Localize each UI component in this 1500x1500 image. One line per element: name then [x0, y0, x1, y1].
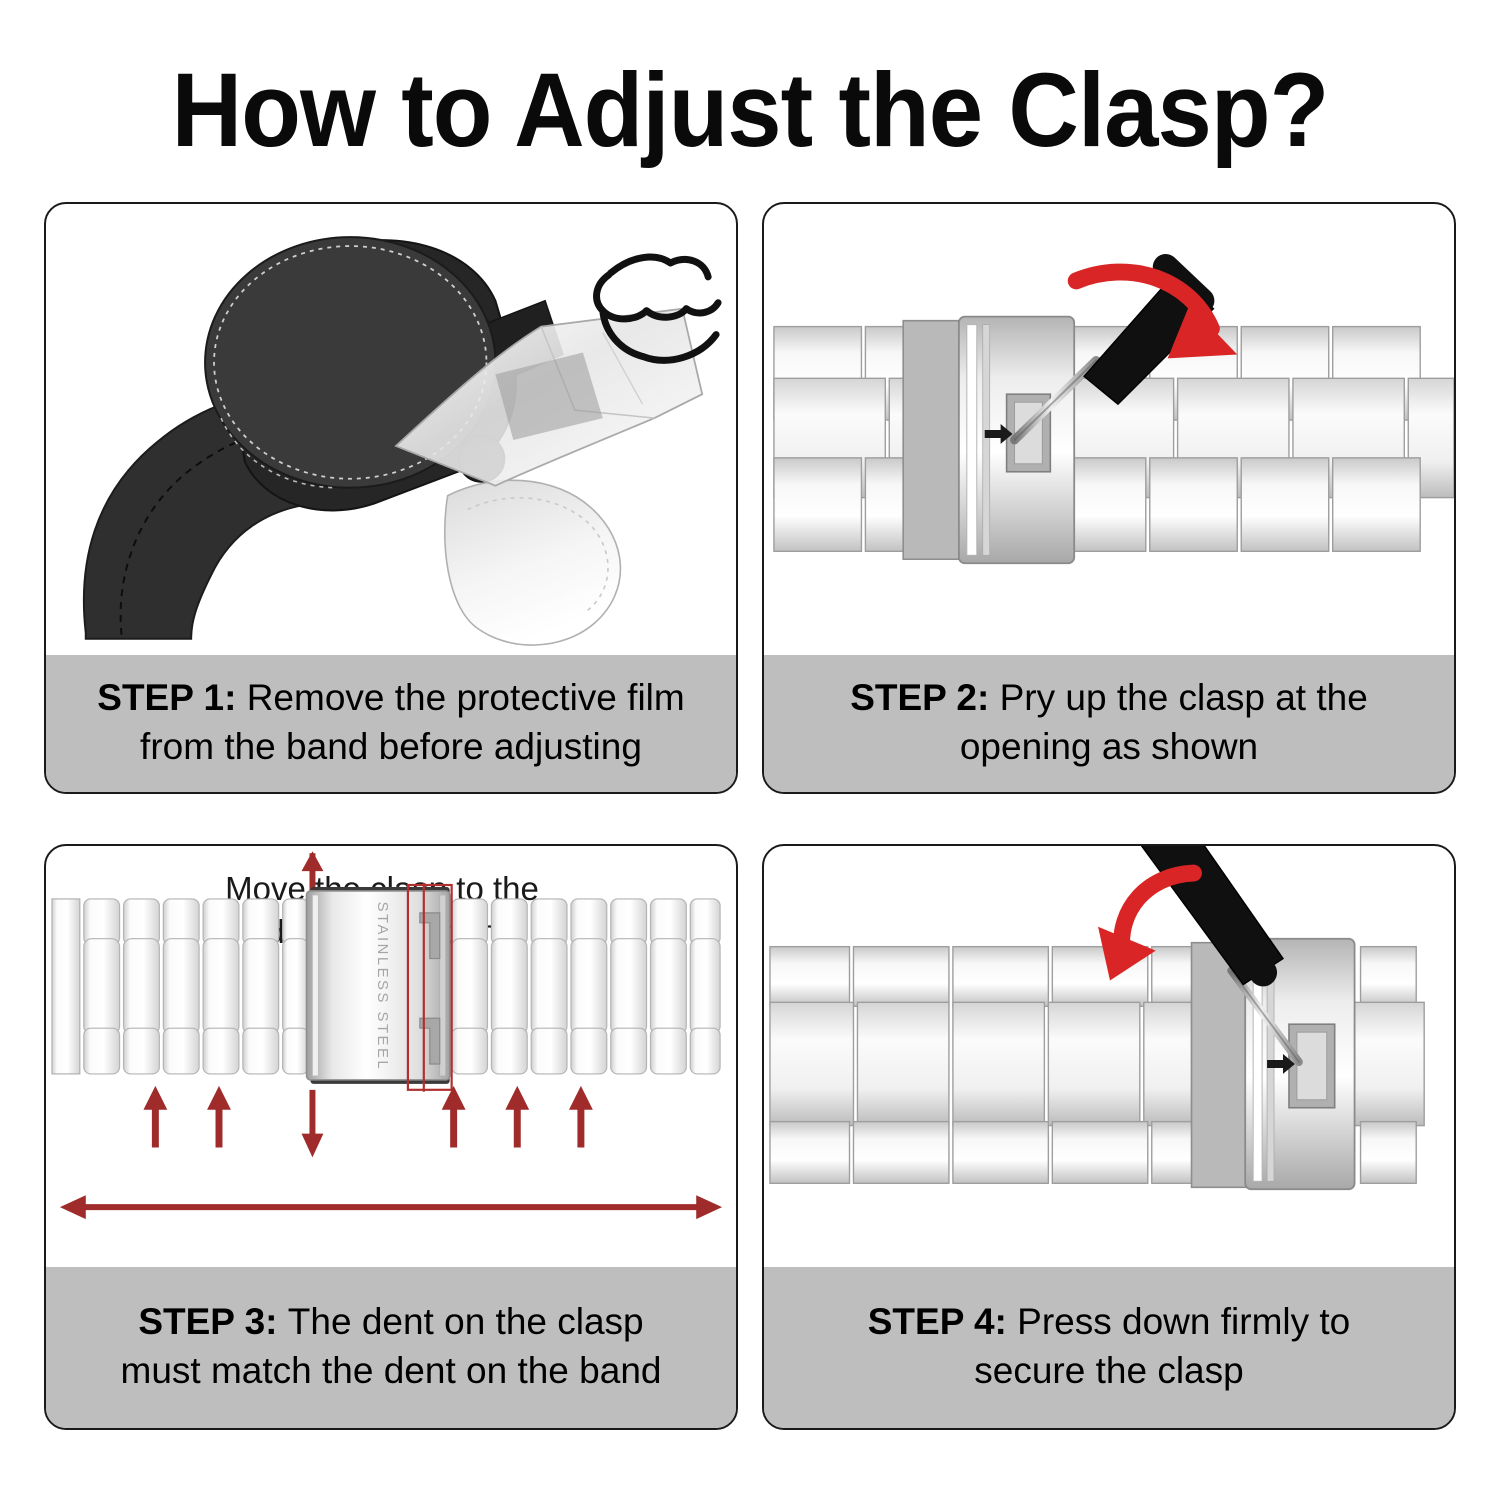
step-1-panel: STEP 1: Remove the protective film from …: [44, 202, 738, 794]
step-4-caption: STEP 4: Press down firmly to secure the …: [764, 1267, 1454, 1428]
step-2-caption-line-2: opening as shown: [960, 723, 1258, 772]
page-title: How to Adjust the Clasp?: [53, 56, 1448, 166]
step-4-caption-line-2: secure the clasp: [974, 1347, 1243, 1396]
infographic-page: How to Adjust the Clasp?: [0, 0, 1500, 1500]
step-2-caption: STEP 2: Pry up the clasp at the opening …: [764, 655, 1454, 792]
step-1-caption-line-1: Remove the protective film: [247, 677, 685, 718]
step-3-panel: Move the clasp to the desired position: [44, 844, 738, 1430]
step-4-illustration: [764, 846, 1454, 1276]
step-3-caption: STEP 3: The dent on the clasp must match…: [46, 1267, 736, 1428]
step-2-panel: STEP 2: Pry up the clasp at the opening …: [762, 202, 1456, 794]
clasp-engraving: STAINLESS STEEL: [374, 902, 390, 1072]
step-3-illustration: STAINLESS STEEL: [46, 846, 736, 1271]
step-1-caption-line-2: from the band before adjusting: [140, 723, 642, 772]
link-arrows: [143, 1086, 592, 1148]
step-1-label: STEP 1:: [97, 677, 246, 718]
step-2-label: STEP 2:: [850, 677, 999, 718]
metal-bracelet-right: [452, 899, 720, 1074]
step-4-label: STEP 4:: [868, 1301, 1017, 1342]
clasp-position-arrow-bottom: [302, 1090, 324, 1158]
metal-bracelet-left: [52, 899, 309, 1074]
step-2-caption-line-1: Pry up the clasp at the: [1000, 677, 1368, 718]
clasp: [903, 317, 1074, 564]
step-4-panel: STEP 4: Press down firmly to secure the …: [762, 844, 1456, 1430]
step-1-caption: STEP 1: Remove the protective film from …: [46, 655, 736, 792]
clasp: STAINLESS STEEL: [306, 887, 449, 1084]
step-1-illustration: [46, 204, 736, 659]
width-double-arrow: [60, 1195, 722, 1219]
protective-film-flap: [445, 480, 621, 645]
step-2-illustration: [764, 204, 1454, 659]
step-3-label: STEP 3:: [138, 1301, 287, 1342]
step-3-caption-line-1: The dent on the clasp: [288, 1301, 644, 1342]
step-3-caption-line-2: must match the dent on the band: [121, 1347, 662, 1396]
step-4-caption-line-1: Press down firmly to: [1017, 1301, 1350, 1342]
